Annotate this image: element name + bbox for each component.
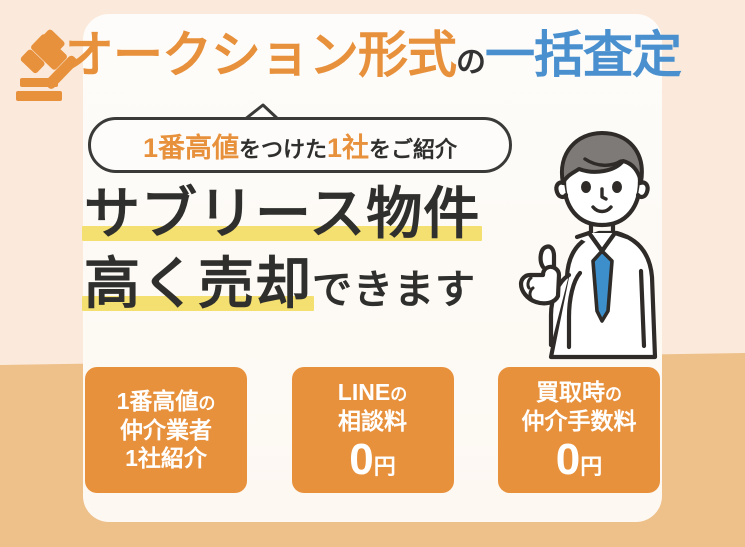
message-sublease-property: サブリース物件 <box>84 186 480 242</box>
message-sell-high: 高く売却 <box>84 256 312 312</box>
headline-particle: の <box>456 46 485 79</box>
pill-price-currency: 円 <box>374 454 396 479</box>
pill-price: 0円 <box>556 438 603 482</box>
pill-price: 0円 <box>349 438 396 482</box>
headline-bulk-appraisal: 一括査定 <box>485 27 681 83</box>
benefit-pill-list: 1番高値の 仲介業者 1社紹介 LINEの 相談料 0円 買取時の 仲介手数料 … <box>83 367 662 493</box>
pill-line-1: 1番高値の <box>117 387 216 416</box>
pill-line-1-suffix: の <box>390 385 407 404</box>
pill-price-currency: 円 <box>580 454 602 479</box>
message-line-2: 高く売却できます <box>84 256 514 312</box>
pill-line-1-main: 1番高値 <box>117 388 199 414</box>
callout-bubble: 1番高値をつけた1社をご紹介 <box>88 117 512 173</box>
pill-line-1-main: 買取時 <box>536 379 605 405</box>
pill-price-number: 0 <box>349 435 372 484</box>
bubble-mid-text-2: をご紹介 <box>369 137 457 162</box>
pill-no-commission[interactable]: 買取時の 仲介手数料 0円 <box>498 367 660 493</box>
callout-bubble-text: 1番高値をつけた1社をご紹介 <box>143 126 457 165</box>
pill-line-1: 買取時の <box>536 378 622 407</box>
pill-price-number: 0 <box>556 435 579 484</box>
pill-line-1-suffix: の <box>605 385 622 404</box>
bubble-mid-text-1: をつけた <box>239 137 327 162</box>
bubble-accent-highest-price: 1番高値 <box>143 133 239 163</box>
businessman-pointing-up-illustration <box>505 125 695 360</box>
pill-line-1-suffix: の <box>198 394 215 413</box>
pill-line-3: 1社紹介 <box>125 444 207 473</box>
pill-top-broker[interactable]: 1番高値の 仲介業者 1社紹介 <box>85 367 247 493</box>
pill-line-2: 相談料 <box>338 407 407 436</box>
pill-line-1-main: LINE <box>338 379 390 405</box>
main-message: サブリース物件 高く売却できます <box>84 186 514 326</box>
message-can-do: できます <box>312 268 476 312</box>
pill-line-2: 仲介業者 <box>120 416 212 445</box>
bubble-accent-one-company: 1社 <box>327 133 369 163</box>
headline-auction-format: オークション形式 <box>64 27 456 83</box>
pill-line-free[interactable]: LINEの 相談料 0円 <box>292 367 454 493</box>
pill-line-1: LINEの <box>338 378 407 407</box>
page-title: オークション形式の一括査定 <box>0 30 745 80</box>
message-line-1: サブリース物件 <box>84 186 514 242</box>
pill-line-2: 仲介手数料 <box>522 407 637 436</box>
advertisement-banner: オークション形式の一括査定 1番高値をつけた1社をご紹介 サブリース物件 高く売… <box>0 0 745 547</box>
